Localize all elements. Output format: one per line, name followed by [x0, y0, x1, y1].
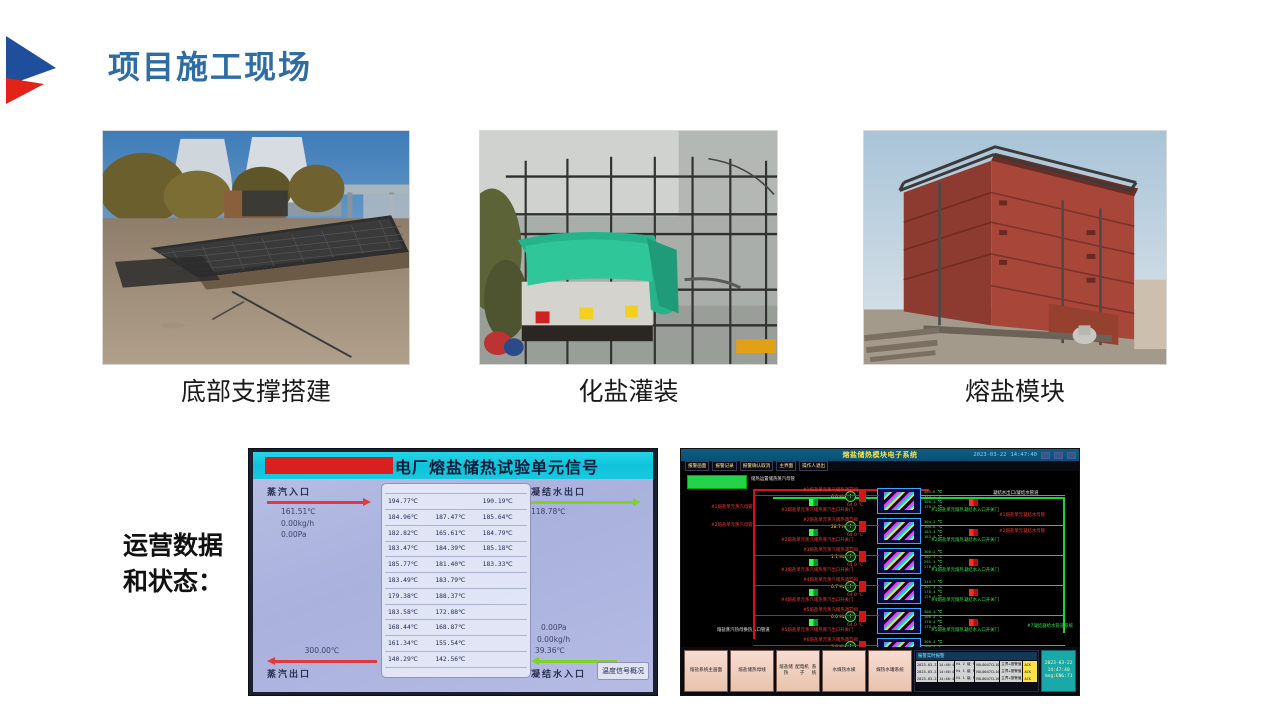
hmi-screenshot-panel: 电厂熔盐储热试验单元信号 蒸汽入口 161.51℃ 0.00kg/h 0.00P… — [248, 448, 658, 696]
footer-clock: 2023-03-22 14:47:40 msg:ENG:71 — [1041, 650, 1076, 692]
steam-inlet-label: 蒸汽入口 — [267, 485, 371, 498]
temperature-row: 183.58℃172.88℃ — [385, 605, 527, 621]
heat-exchanger-icon[interactable] — [877, 488, 921, 514]
module-temp-stack: 304.3 ℃300.6 ℃183.4 ℃183.4 ℃ — [924, 519, 942, 540]
module-temp-stack: 308.4 ℃300.4 ℃178.4 ℃178.4 ℃ — [924, 609, 942, 630]
scada-tab[interactable]: 媒热水罐系统 — [868, 650, 912, 692]
scada-tab[interactable]: 水媒热水媒 — [822, 650, 866, 692]
temperature-cell: 185.18℃ — [480, 545, 527, 552]
scada-footer: 熔盐系统主画面熔盐储热母线熔盐储热配电机子系统水媒热水媒媒热水罐系统 报警实时报… — [681, 647, 1079, 695]
scada-title: 熔盐储热模块电子系统 — [843, 450, 918, 460]
module-outlet-valve-icon[interactable] — [809, 589, 818, 596]
alarm-cell: ACK — [1023, 675, 1037, 682]
condensate-outlet-zone: 凝结水出口 118.78℃ — [531, 485, 641, 518]
temperature-cell: 172.88℃ — [432, 609, 479, 616]
redacted-plant-name-block — [265, 457, 393, 474]
footer-clock-msg: msg:ENG:71 — [1045, 674, 1073, 681]
heat-exchanger-icon[interactable] — [877, 608, 921, 634]
alarm-rows: 2023-03-2214:46:47Hi 2 级 PLCVOL0047CL100… — [916, 661, 1037, 682]
steam-inlet-zone: 蒸汽入口 161.51℃ 0.00kg/h 0.00Pa — [267, 485, 371, 541]
module-outlet-valve-label: #4熔盐单元蒸汽储热蒸汽出口开关门 — [781, 598, 853, 603]
temperature-cell: 183.79℃ — [432, 577, 479, 584]
scada-menu-item[interactable]: 报警确认取消 — [740, 461, 774, 471]
photo-salt-filling — [479, 130, 778, 365]
scada-tab-line: 媒 — [851, 668, 856, 674]
temperature-overview-button[interactable]: 温度信号概况 — [597, 662, 649, 680]
alarm-row[interactable]: 2023-03-2214:46:47Hi 1 级 PLCVOL0047CL100… — [916, 668, 1037, 675]
module-condensate-valve-label: #4熔盐单元熔热凝结水入口开关门 — [931, 598, 999, 603]
scada-tab-line: 配电机子 — [794, 665, 810, 676]
scada-titlebar-right: 2023-03-22 14:47:40 — [973, 449, 1076, 461]
alarm-cell: 主界+报警值 — [1000, 668, 1022, 675]
steam-inlet-arrow-icon — [267, 498, 371, 506]
module-condensate-valve-icon[interactable] — [969, 619, 978, 626]
scada-tab[interactable]: 熔盐储热母线 — [730, 650, 774, 692]
temperature-cell: 179.38℃ — [385, 593, 432, 600]
scada-tab-line: 熔盐系统 — [690, 668, 708, 674]
hmi-screen: 电厂熔盐储热试验单元信号 蒸汽入口 161.51℃ 0.00kg/h 0.00P… — [253, 452, 653, 692]
alarm-cell: 2023-03-22 — [916, 675, 937, 682]
temperature-cell: 183.58℃ — [385, 609, 432, 616]
hmi-body: 蒸汽入口 161.51℃ 0.00kg/h 0.00Pa 300.00℃ — [253, 479, 653, 682]
corporate-arrow-logo — [4, 28, 66, 106]
module-outlet-valve-label: #3熔盐单元蒸汽储热蒸汽出口开关门 — [781, 568, 853, 573]
alarm-cell: ACK — [1023, 668, 1037, 675]
scada-tab[interactable]: 熔盐系统主画面 — [684, 650, 728, 692]
photo-captions: 底部支撑搭建 化盐灌装 熔盐模块 — [0, 372, 1280, 408]
operating-data-label-line2: 和状态： — [98, 564, 248, 600]
alarm-row[interactable]: 2023-03-2214:46:47Hi 2 级 PLCVOL0047CL100… — [916, 661, 1037, 668]
scada-tab[interactable]: 熔盐储热配电机子系统 — [776, 650, 820, 692]
steam-inlet-flow: 0.00kg/h — [281, 518, 371, 530]
alarm-cell: 14:46:47 — [938, 668, 954, 675]
temperature-cell: 182.82℃ — [385, 530, 432, 537]
module-actuator-icon[interactable] — [859, 551, 866, 562]
steam-outlet-temp: 300.00℃ — [267, 645, 377, 657]
temperature-cell: 161.34℃ — [385, 640, 432, 647]
molten-salt-module-row: #3熔盐单元蒸汽储热调节阀1.1 Hz!64.0 ℃300.2 ℃302.3 ℃… — [681, 547, 1079, 577]
alarm-cell: VOL0047CL100 — [975, 668, 1000, 675]
temperature-row — [385, 668, 527, 674]
module-pump-icon[interactable]: ! — [845, 611, 856, 622]
scada-titlebar-date: 2023-03-22 — [973, 452, 1006, 458]
photo-salt-module — [863, 130, 1167, 365]
condensate-outlet-arrow-icon — [531, 498, 641, 506]
operating-data-label: 运营数据 和状态： — [98, 528, 248, 601]
module-outlet-valve-icon[interactable] — [809, 559, 818, 566]
condensate-inlet-pressure: 0.00Pa — [531, 622, 641, 634]
steam-inlet-pressure: 0.00Pa — [281, 529, 371, 541]
scada-tab-strip: 熔盐系统主画面熔盐储热母线熔盐储热配电机子系统水媒热水媒媒热水罐系统 — [684, 650, 912, 692]
temperature-cell: 183.47℃ — [385, 545, 432, 552]
alarm-cell: 2023-03-22 — [916, 661, 937, 668]
steam-outlet-label: 蒸汽出口 — [267, 667, 377, 680]
module-actuator-icon[interactable] — [859, 581, 866, 592]
alarm-cell: Hi 1 级 PLC — [955, 675, 974, 682]
scada-menu-item[interactable]: 报警画面 — [685, 461, 709, 471]
module-outlet-valve-icon[interactable] — [809, 499, 818, 506]
module-outlet-valve-label: #5熔盐单元蒸汽储热蒸汽出口开关门 — [781, 628, 853, 633]
heat-exchanger-icon[interactable] — [877, 548, 921, 574]
module-condensate-valve-label: #3熔盐单元熔热凝结水入口开关门 — [931, 568, 999, 573]
module-condensate-valve-icon[interactable] — [969, 559, 978, 566]
scada-tab-line: 系统 — [895, 668, 904, 674]
alarm-cell: VOL0047CL100 — [975, 661, 1000, 668]
temperature-signal-table: 194.77℃190.19℃184.96℃187.47℃185.64℃182.8… — [381, 483, 531, 678]
temperature-cell: 184.79℃ — [480, 530, 527, 537]
heat-exchanger-icon[interactable] — [877, 518, 921, 544]
alarm-list-header: 报警实时报警 — [916, 652, 1037, 660]
steam-header-label: 储热运置储热蒸汽母管 — [751, 477, 795, 482]
temperature-cell: 140.29℃ — [385, 656, 432, 663]
scada-titlebar: 熔盐储热模块电子系统 2023-03-22 14:47:40 — [681, 449, 1079, 461]
temperature-row: 194.77℃190.19℃ — [385, 494, 527, 510]
condensate-outlet-label: 凝结水出口 — [531, 485, 641, 498]
scada-tab-line: 主画面 — [708, 668, 722, 674]
scada-menu-item[interactable]: 主界面 — [776, 461, 796, 471]
temperature-cell: 188.37℃ — [432, 593, 479, 600]
molten-salt-module-row: #5熔盐单元蒸汽储热调节阀0.0 Hz!64.0 ℃308.4 ℃300.4 ℃… — [681, 607, 1079, 637]
module-condensate-valve-label: #1熔盐单元熔热凝结水入口开关门 — [931, 508, 999, 513]
operating-data-label-line1: 运营数据 — [98, 528, 248, 564]
alarm-cell: 14:46:47 — [938, 661, 954, 668]
temperature-row: 168.44℃168.87℃ — [385, 620, 527, 636]
temperature-cell: 185.64℃ — [480, 514, 527, 521]
photo-bottom-support — [102, 130, 410, 365]
scada-tab-line: 媒热水罐 — [876, 668, 894, 674]
alarm-cell: Hi 1 级 PLC — [955, 668, 974, 675]
temperature-cell: 165.61℃ — [432, 530, 479, 537]
temperature-row: 179.38℃188.37℃ — [385, 589, 527, 605]
steam-outlet-zone: 300.00℃ 蒸汽出口 — [267, 645, 377, 680]
module-condensate-valve-label: #5熔盐单元熔热凝结水入口开关门 — [931, 628, 999, 633]
temperature-cell: 187.47℃ — [432, 514, 479, 521]
temperature-row: 161.34℃155.54℃ — [385, 636, 527, 652]
module-outlet-valve-label: #1熔盐单元蒸汽储热蒸汽出口开关门 — [781, 508, 853, 513]
module-actuator-icon[interactable] — [859, 491, 866, 502]
temperature-cell: 184.39℃ — [432, 545, 479, 552]
temperature-cell: 183.33℃ — [480, 561, 527, 568]
caption-salt-module: 熔盐模块 — [863, 372, 1167, 408]
hmi-titlebar: 电厂熔盐储热试验单元信号 — [253, 452, 653, 479]
alarm-cell: 14:46:45 — [938, 675, 954, 682]
alarm-cell: 主界+报警值 — [1000, 661, 1022, 668]
molten-salt-module-row: #2熔盐单元蒸汽储热调节阀28.7 Hz!64.0 ℃304.3 ℃300.6 … — [681, 517, 1079, 547]
scada-mimic-diagram: 储热运置储热蒸汽母管 #1熔盐单元蒸汽母管 #2熔盐单元蒸汽母管 凝结水出口/凝… — [681, 471, 1079, 647]
temperature-cell: 184.96℃ — [385, 514, 432, 521]
module-actuator-icon[interactable] — [859, 611, 866, 622]
alarm-cell: Hi 2 级 PLC — [955, 661, 974, 668]
hmi-title: 电厂熔盐储热试验单元信号 — [395, 454, 599, 478]
alarm-cell: VOL0047CL100 — [975, 675, 1000, 682]
close-button[interactable] — [1067, 452, 1076, 459]
module-temp-stack: 305.6 ℃314.2 ℃300.1 ℃178.1 ℃ — [924, 489, 942, 510]
module-outlet-valve-label: #2熔盐单元蒸汽储热蒸汽出口开关门 — [781, 538, 853, 543]
scada-menu-item[interactable]: 报警记录 — [712, 461, 736, 471]
module-temp-stack: 300.2 ℃302.3 ℃291.1 ℃178.4 ℃ — [924, 549, 942, 570]
molten-salt-module-row: #1熔盐单元蒸汽储热调节阀6.0 Hz!64.0 ℃305.6 ℃314.2 ℃… — [681, 487, 1079, 517]
temperature-cell: 194.77℃ — [385, 498, 432, 505]
module-condensate-valve-icon[interactable] — [969, 529, 978, 536]
temperature-row: 183.49℃183.79℃ — [385, 573, 527, 589]
scada-tab-line: 母线 — [757, 668, 766, 674]
alarm-cell: 2023-03-22 — [916, 668, 937, 675]
alarm-cell: ACK — [1023, 661, 1037, 668]
page-title: 项目施工现场 — [108, 42, 312, 88]
maximize-button[interactable] — [1054, 452, 1063, 459]
temperature-row — [385, 487, 527, 494]
scada-tab-line: 系统 — [810, 665, 818, 676]
alarm-row[interactable]: 2023-03-2214:46:45Hi 1 级 PLCVOL0047CL100… — [916, 675, 1037, 682]
footer-clock-date: 2023-03-22 — [1045, 661, 1073, 668]
scada-menu-item[interactable]: 操作人退出 — [799, 461, 828, 471]
slide-root: 项目施工现场 — [0, 0, 1280, 720]
temperature-row: 140.29℃142.56℃ — [385, 652, 527, 668]
temperature-cell: 183.49℃ — [385, 577, 432, 584]
alarm-cell: 主界+报警值 — [1000, 675, 1022, 682]
module-pump-icon[interactable]: ! — [845, 551, 856, 562]
molten-salt-module-row: #4熔盐单元蒸汽储热调节阀0.7 Hz!64.0 ℃313.7 ℃307.4 ℃… — [681, 577, 1079, 607]
caption-salt-filling: 化盐灌装 — [479, 372, 778, 408]
scada-menubar: 报警画面报警记录报警确认取消主界面操作人退出 — [681, 461, 1079, 471]
scada-titlebar-time: 14:47:40 — [1011, 452, 1038, 458]
minimize-button[interactable] — [1041, 452, 1050, 459]
heat-exchanger-icon[interactable] — [877, 578, 921, 604]
steam-inlet-temp: 161.51℃ — [281, 506, 371, 518]
temperature-cell: 168.87℃ — [432, 624, 479, 631]
temperature-row: 182.82℃165.61℃184.79℃ — [385, 526, 527, 542]
module-condensate-valve-icon[interactable] — [969, 499, 978, 506]
scada-tab-line: 水媒热水 — [833, 668, 851, 674]
steam-outlet-arrow-icon — [267, 657, 377, 665]
scada-tab-line: 熔盐储热 — [778, 665, 794, 676]
scada-screenshot-panel: 熔盐储热模块电子系统 2023-03-22 14:47:40 报警画面报警记录报… — [680, 448, 1080, 696]
module-pump-icon[interactable]: ! — [845, 491, 856, 502]
temperature-cell: 155.54℃ — [432, 640, 479, 647]
temperature-row: 183.47℃184.39℃185.18℃ — [385, 542, 527, 558]
temperature-cell: 190.19℃ — [480, 498, 527, 505]
condensate-inlet-flow: 0.00kg/h — [531, 634, 641, 646]
module-actuator-icon[interactable] — [859, 521, 866, 532]
temperature-cell: 181.40℃ — [432, 561, 479, 568]
temperature-cell: 168.44℃ — [385, 624, 432, 631]
module-outlet-valve-icon[interactable] — [809, 619, 818, 626]
condensate-inlet-temp: 39.36℃ — [531, 645, 641, 657]
module-pump-icon[interactable]: ! — [845, 581, 856, 592]
temperature-cell: 142.56℃ — [432, 656, 479, 663]
module-pump-icon[interactable]: ! — [845, 521, 856, 532]
module-condensate-valve-label: #2熔盐单元熔热凝结水入口开关门 — [931, 538, 999, 543]
module-outlet-valve-icon[interactable] — [809, 529, 818, 536]
module-temp-stack: 313.7 ℃307.4 ℃178.4 ℃178.4 ℃ — [924, 579, 942, 600]
scada-tab-line: 熔盐储热 — [738, 668, 756, 674]
temperature-row: 185.77℃181.40℃183.33℃ — [385, 557, 527, 573]
condensate-outlet-temp: 118.78℃ — [531, 506, 641, 518]
module-condensate-valve-icon[interactable] — [969, 589, 978, 596]
temperature-cell: 185.77℃ — [385, 561, 432, 568]
alarm-list: 报警实时报警 2023-03-2214:46:47Hi 2 级 PLCVOL00… — [914, 650, 1039, 692]
temperature-row: 184.96℃187.47℃185.64℃ — [385, 510, 527, 526]
caption-bottom-support: 底部支撑搭建 — [102, 372, 410, 408]
photo-row — [0, 130, 1280, 365]
